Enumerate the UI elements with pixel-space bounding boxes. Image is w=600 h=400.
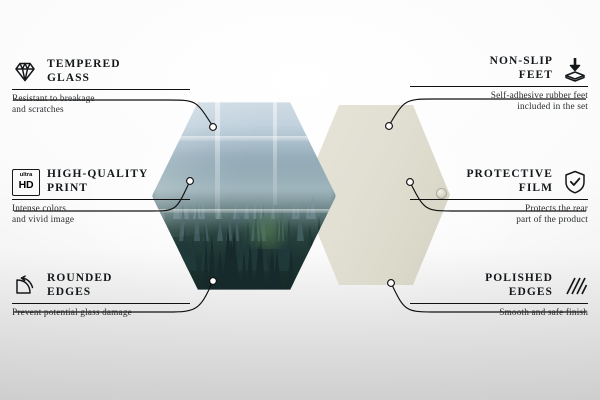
shield-check-icon [562, 169, 588, 195]
feature-high-quality-print: ultra HD HIGH-QUALITY PRINT Intense colo… [12, 168, 190, 227]
feature-title: NON-SLIP FEET [490, 55, 553, 82]
divider [12, 199, 190, 200]
feature-title: POLISHED EDGES [485, 272, 553, 299]
press-down-foot-icon [562, 56, 588, 82]
diamond-icon [12, 59, 38, 85]
feature-description: Smooth and safe finish [410, 308, 588, 319]
divider [12, 303, 190, 304]
divider [12, 89, 190, 90]
infographic-canvas: TEMPERED GLASS Resistant to breakage and… [0, 0, 600, 400]
feature-title: PROTECTIVE FILM [466, 168, 553, 195]
feature-description: Self-adhesive rubber feet included in th… [410, 91, 588, 114]
divider [410, 199, 588, 200]
feature-description: Protects the rear part of the product [410, 204, 588, 227]
divider [410, 86, 588, 87]
divider [410, 303, 588, 304]
feature-description: Intense colors and vivid image [12, 204, 190, 227]
feature-rounded-edges: ROUNDED EDGES Prevent potential glass da… [12, 272, 190, 319]
feature-title: HIGH-QUALITY PRINT [47, 168, 148, 195]
feature-description: Resistant to breakage and scratches [12, 94, 190, 117]
feature-protective-film: PROTECTIVE FILM Protects the rear part o… [410, 168, 588, 227]
feature-description: Prevent potential glass damage [12, 308, 190, 319]
rounded-corner-icon [12, 273, 38, 299]
feature-title: TEMPERED GLASS [47, 58, 121, 85]
rubber-foot [427, 260, 436, 269]
rubber-foot [427, 121, 436, 130]
feature-polished-edges: POLISHED EDGES Smooth and safe finish [410, 272, 588, 319]
feature-non-slip-feet: NON-SLIP FEET Self-adhesive rubber feet … [410, 55, 588, 114]
feature-tempered-glass: TEMPERED GLASS Resistant to breakage and… [12, 58, 190, 117]
ultra-hd-badge-icon: ultra HD [12, 169, 38, 195]
diagonal-lines-icon [562, 273, 588, 299]
feature-title: ROUNDED EDGES [47, 272, 113, 299]
